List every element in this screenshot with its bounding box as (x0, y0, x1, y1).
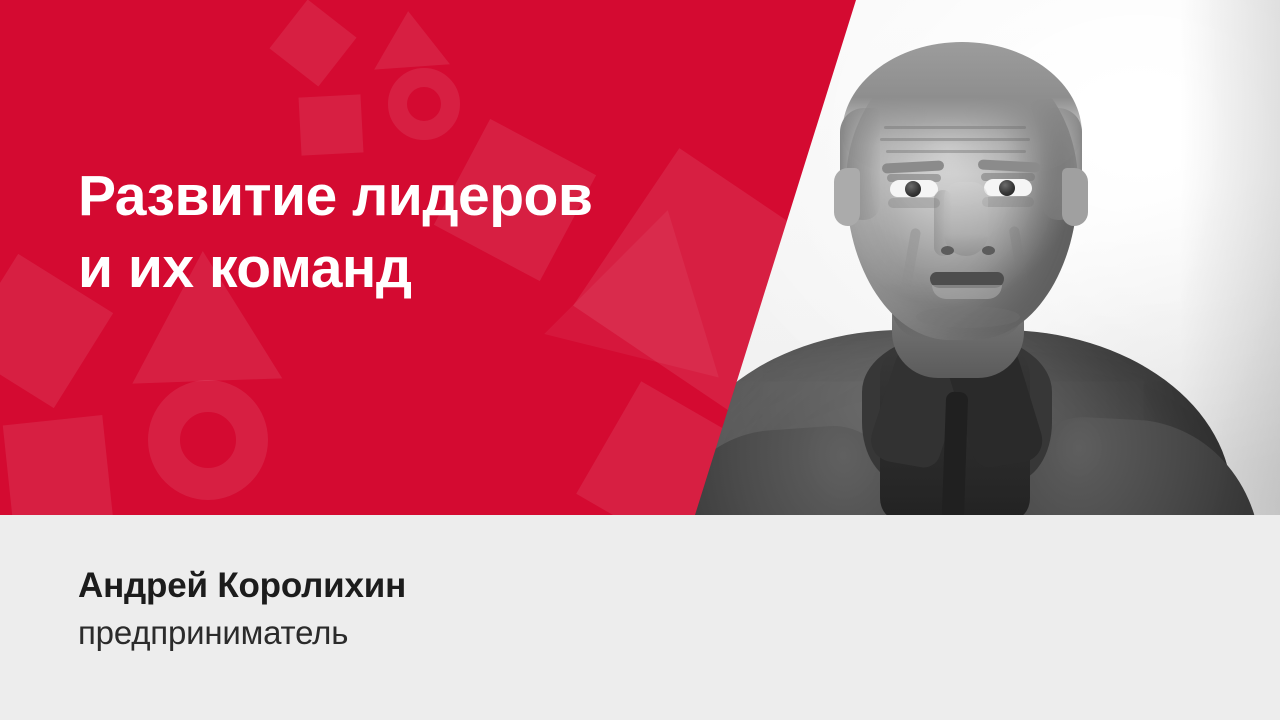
page-title: Развитие лидеров и их команд (78, 160, 778, 304)
nostril-right (982, 246, 995, 255)
square-shape (299, 94, 364, 155)
ring-shape (148, 380, 268, 500)
forehead-crease-3 (886, 150, 1026, 153)
title-card-slide: Развитие лидеров и их команд Андрей Коро… (0, 0, 1280, 720)
undereye-right (982, 197, 1034, 207)
lower-lip (932, 285, 1002, 299)
ring-shape (388, 68, 460, 140)
nostril-left (941, 246, 954, 255)
forehead-crease-2 (880, 138, 1030, 141)
rotated-square-shape (269, 0, 356, 87)
ear-right (1062, 168, 1088, 226)
ear-left (834, 168, 860, 226)
shirt-placket (942, 392, 968, 521)
forehead-crease-1 (884, 126, 1026, 129)
iris-left (905, 181, 921, 197)
speaker-name: Андрей Королихин (78, 566, 406, 606)
chin-shadow (916, 306, 1020, 328)
iris-right (999, 180, 1015, 196)
eye-right (984, 179, 1032, 196)
eye-left (890, 180, 938, 197)
square-shape (3, 415, 113, 515)
speaker-role: предприниматель (78, 614, 348, 652)
undereye-left (888, 198, 940, 208)
nose (944, 182, 988, 256)
triangle-shape (370, 5, 450, 69)
